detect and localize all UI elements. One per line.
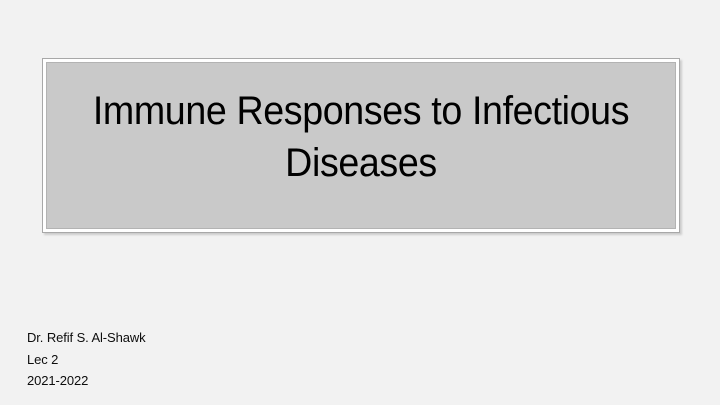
- credit-academic-year: 2021-2022: [27, 370, 327, 392]
- slide-title: Immune Responses to Infectious Diseases: [66, 86, 656, 188]
- slide-canvas: Immune Responses to Infectious Diseases …: [0, 0, 720, 405]
- credits-block: Dr. Refif S. Al-Shawk Lec 2 2021-2022: [27, 327, 327, 392]
- title-placeholder-inner: Immune Responses to Infectious Diseases: [46, 62, 676, 229]
- credit-author: Dr. Refif S. Al-Shawk: [27, 327, 327, 349]
- credit-lecture: Lec 2: [27, 349, 327, 371]
- title-placeholder[interactable]: Immune Responses to Infectious Diseases: [42, 58, 680, 233]
